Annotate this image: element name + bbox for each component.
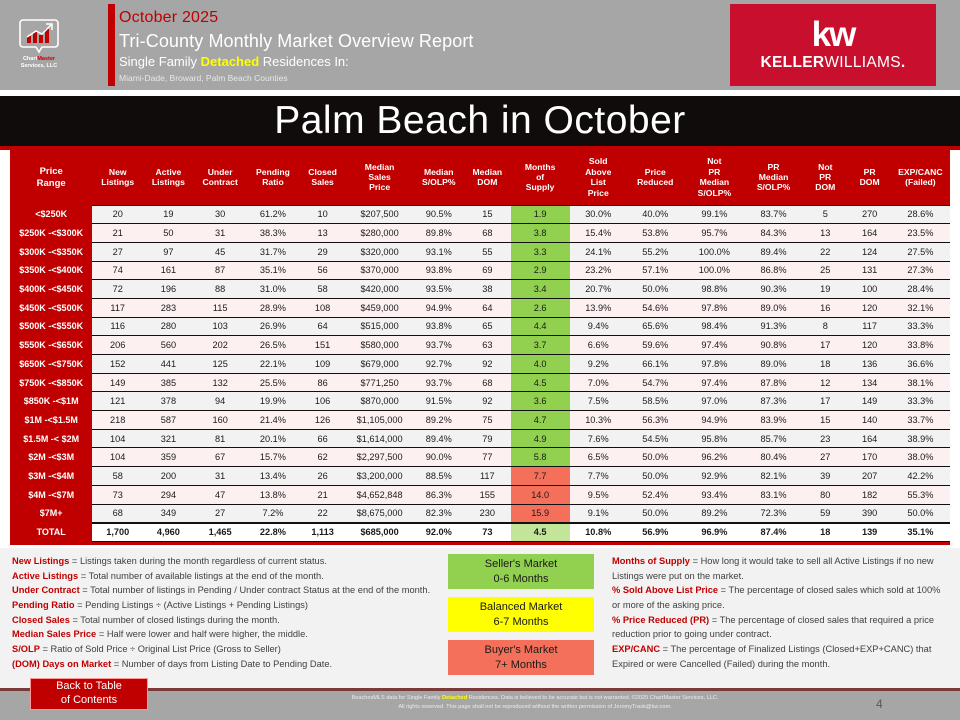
cell-npr-dom: 17 (802, 392, 848, 411)
cell-dom: 73 (464, 523, 510, 542)
cell-pr-solp: 86.8% (745, 261, 802, 280)
cell-reduced: 50.0% (627, 448, 684, 467)
cell-pr-dom: 182 (849, 485, 891, 504)
cell-exp: 28.4% (891, 280, 950, 299)
definition-text: = Total number of closed listings during… (70, 615, 280, 625)
cell-new: 104 (92, 429, 143, 448)
cell-pr-dom: 164 (849, 429, 891, 448)
definition-right-1: % Sold Above List Price = The percentage… (612, 583, 950, 612)
cell-pending: 22.1% (247, 355, 300, 374)
cell-npr-solp: 92.9% (684, 467, 745, 486)
cell-uc: 81 (194, 429, 247, 448)
cell-pr-dom: 117 (849, 317, 891, 336)
cell-closed: 106 (299, 392, 345, 411)
definitions-left: New Listings = Listings taken during the… (12, 554, 432, 672)
cell-solp: 94.9% (413, 298, 464, 317)
definition-right-2: % Price Reduced (PR) = The percentage of… (612, 613, 950, 642)
price-range-label: $550K -<$650K (10, 336, 92, 355)
cell-solp: 90.5% (413, 205, 464, 224)
months-of-supply-cell: 1.9 (511, 205, 570, 224)
report-counties: Miami-Dade, Broward, Palm Beach Counties (119, 72, 649, 85)
cell-exp: 32.1% (891, 298, 950, 317)
cell-dom: 64 (464, 298, 510, 317)
cell-active: 280 (143, 317, 194, 336)
column-header-pr-median-s-olp: PRMedianS/OLP% (745, 150, 802, 205)
months-of-supply-cell: 4.7 (511, 411, 570, 430)
disclaimer-pre: BeachesMLS data for Single Family (352, 695, 442, 701)
cell-new: 1,700 (92, 523, 143, 542)
months-of-supply-cell: 2.9 (511, 261, 570, 280)
cell-npr-dom: 80 (802, 485, 848, 504)
report-month: October 2025 (119, 8, 649, 29)
definitions-right: Months of Supply = How long it would tak… (612, 554, 950, 672)
cell-above: 7.6% (570, 429, 627, 448)
cell-pending: 61.2% (247, 205, 300, 224)
cell-pr-dom: 170 (849, 448, 891, 467)
cell-pending: 7.2% (247, 504, 300, 523)
cell-npr-solp: 96.2% (684, 448, 745, 467)
definition-term: S/OLP (12, 644, 40, 654)
cell-above: 24.1% (570, 242, 627, 261)
market-legend-box-0: Seller's Market0-6 Months (448, 554, 594, 589)
cell-above: 20.7% (570, 280, 627, 299)
column-header-not-pr-dom: NotPRDOM (802, 150, 848, 205)
cell-reduced: 54.7% (627, 373, 684, 392)
cell-new: 27 (92, 242, 143, 261)
cell-uc: 88 (194, 280, 247, 299)
cell-reduced: 55.2% (627, 242, 684, 261)
cell-msp: $515,000 (346, 317, 414, 336)
cell-active: 385 (143, 373, 194, 392)
cell-pending: 21.4% (247, 411, 300, 430)
table-total-row: TOTAL1,7004,9601,46522.8%1,113$685,00092… (10, 523, 950, 542)
price-range-label: <$250K (10, 205, 92, 224)
cell-npr-dom: 8 (802, 317, 848, 336)
section-banner: Palm Beach in October (0, 96, 960, 150)
cell-pr-dom: 134 (849, 373, 891, 392)
back-to-table-of-contents-button[interactable]: Back to Table of Contents (30, 678, 148, 710)
cell-above: 9.5% (570, 485, 627, 504)
cell-dom: 65 (464, 317, 510, 336)
cell-uc: 47 (194, 485, 247, 504)
page-number: 4 (876, 697, 883, 711)
cell-closed: 1,113 (299, 523, 345, 542)
market-legend-range: 7+ Months (495, 658, 547, 672)
cell-exp: 33.3% (891, 317, 950, 336)
price-range-label: $350K -<$400K (10, 261, 92, 280)
cell-dom: 68 (464, 373, 510, 392)
disclaimer-post: Residences. Data is believed to be accur… (467, 695, 718, 701)
cell-active: 378 (143, 392, 194, 411)
column-header-exp-canc-failed: EXP/CANC(Failed) (891, 150, 950, 205)
cell-exp: 27.5% (891, 242, 950, 261)
cell-active: 50 (143, 224, 194, 243)
kw-monogram: kw (812, 18, 855, 51)
definition-text: = Number of days from Listing Date to Pe… (111, 659, 332, 669)
price-range-label: $300K -<$350K (10, 242, 92, 261)
definition-term: Months of Supply (612, 556, 690, 566)
cell-pr-dom: 136 (849, 355, 891, 374)
definition-text: = Listings taken during the month regard… (69, 556, 327, 566)
cell-solp: 91.5% (413, 392, 464, 411)
price-range-label: $2M -<$3M (10, 448, 92, 467)
column-header-not-pr-median-s-olp: NotPRMedianS/OLP% (684, 150, 745, 205)
price-range-label: $4M -<$7M (10, 485, 92, 504)
cell-pr-dom: 120 (849, 298, 891, 317)
cell-solp: 82.3% (413, 504, 464, 523)
kw-wordmark: KELLERWILLIAMS. (761, 54, 906, 72)
cell-solp: 93.7% (413, 373, 464, 392)
price-range-label: $650K -<$750K (10, 355, 92, 374)
cell-new: 121 (92, 392, 143, 411)
cell-npr-solp: 97.8% (684, 355, 745, 374)
cell-reduced: 57.1% (627, 261, 684, 280)
cell-closed: 108 (299, 298, 345, 317)
cell-pending: 22.8% (247, 523, 300, 542)
cell-npr-dom: 15 (802, 411, 848, 430)
cell-solp: 93.8% (413, 317, 464, 336)
column-header-closed-sales: ClosedSales (299, 150, 345, 205)
definition-left-0: New Listings = Listings taken during the… (12, 554, 432, 569)
cell-msp: $370,000 (346, 261, 414, 280)
cell-above: 6.6% (570, 336, 627, 355)
cell-pr-solp: 87.8% (745, 373, 802, 392)
cell-reduced: 52.4% (627, 485, 684, 504)
price-range-label: $250K -<$300K (10, 224, 92, 243)
table-row: $550K -<$650K20656020226.5%151$580,00093… (10, 336, 950, 355)
cell-reduced: 65.6% (627, 317, 684, 336)
definition-term: EXP/CANC (612, 644, 660, 654)
cell-npr-solp: 98.8% (684, 280, 745, 299)
column-header-median-s-olp: MedianS/OLP% (413, 150, 464, 205)
table-row: $450K -<$500K11728311528.9%108$459,00094… (10, 298, 950, 317)
cell-npr-dom: 59 (802, 504, 848, 523)
cell-exp: 42.2% (891, 467, 950, 486)
cell-pr-dom: 120 (849, 336, 891, 355)
cell-npr-dom: 39 (802, 467, 848, 486)
cell-msp: $2,297,500 (346, 448, 414, 467)
cell-msp: $1,105,000 (346, 411, 414, 430)
cell-npr-solp: 99.1% (684, 205, 745, 224)
months-of-supply-cell: 4.5 (511, 373, 570, 392)
cell-solp: 93.7% (413, 336, 464, 355)
cell-uc: 1,465 (194, 523, 247, 542)
cell-msp: $685,000 (346, 523, 414, 542)
cell-closed: 109 (299, 355, 345, 374)
definition-text: = The percentage of Finalized Listings (… (612, 644, 931, 669)
cell-solp: 93.5% (413, 280, 464, 299)
market-table-container: PriceRangeNewListingsActiveListingsUnder… (10, 150, 950, 545)
cell-npr-dom: 19 (802, 280, 848, 299)
cell-new: 21 (92, 224, 143, 243)
cell-pr-solp: 80.4% (745, 448, 802, 467)
cell-npr-dom: 23 (802, 429, 848, 448)
cell-new: 116 (92, 317, 143, 336)
column-header-under-contract: UnderContract (194, 150, 247, 205)
cell-pr-dom: 207 (849, 467, 891, 486)
cell-active: 283 (143, 298, 194, 317)
months-of-supply-cell: 4.0 (511, 355, 570, 374)
definition-term: % Sold Above List Price (612, 585, 718, 595)
cell-active: 587 (143, 411, 194, 430)
subtitle-pre: Single Family (119, 54, 201, 69)
column-header-pr-dom: PRDOM (849, 150, 891, 205)
cell-pr-dom: 100 (849, 280, 891, 299)
cell-closed: 151 (299, 336, 345, 355)
cell-npr-solp: 97.8% (684, 298, 745, 317)
cell-uc: 125 (194, 355, 247, 374)
header-red-divider (108, 4, 115, 86)
cell-dom: 230 (464, 504, 510, 523)
months-of-supply-cell: 2.6 (511, 298, 570, 317)
market-legend-box-2: Buyer's Market7+ Months (448, 640, 594, 675)
price-range-label: $750K -<$850K (10, 373, 92, 392)
price-range-label: TOTAL (10, 523, 92, 542)
logo-name-part1: Chart (23, 56, 37, 62)
price-range-label: $400K -<$450K (10, 280, 92, 299)
cell-reduced: 59.6% (627, 336, 684, 355)
cell-exp: 35.1% (891, 523, 950, 542)
cell-closed: 26 (299, 467, 345, 486)
column-header-price-range: PriceRange (10, 150, 92, 205)
cell-above: 7.5% (570, 392, 627, 411)
cell-solp: 92.7% (413, 355, 464, 374)
months-of-supply-cell: 3.7 (511, 336, 570, 355)
definition-term: Closed Sales (12, 615, 70, 625)
table-row: $2M -<$3M1043596715.7%62$2,297,50090.0%7… (10, 448, 950, 467)
table-row: $350K -<$400K741618735.1%56$370,00093.8%… (10, 261, 950, 280)
cell-active: 196 (143, 280, 194, 299)
column-header-median-sales-price: MedianSalesPrice (346, 150, 414, 205)
cell-uc: 202 (194, 336, 247, 355)
cell-pr-dom: 131 (849, 261, 891, 280)
cell-pr-dom: 390 (849, 504, 891, 523)
definition-left-3: Pending Ratio = Pending Listings ÷ (Acti… (12, 598, 432, 613)
column-header-median-dom: MedianDOM (464, 150, 510, 205)
cell-uc: 132 (194, 373, 247, 392)
cell-pr-solp: 83.9% (745, 411, 802, 430)
cell-uc: 115 (194, 298, 247, 317)
cell-above: 7.7% (570, 467, 627, 486)
page-footer: Back to Table of Contents BeachesMLS dat… (0, 688, 960, 720)
cell-uc: 160 (194, 411, 247, 430)
cell-closed: 126 (299, 411, 345, 430)
table-row: $850K -<$1M1213789419.9%106$870,00091.5%… (10, 392, 950, 411)
price-range-label: $1M -<$1.5M (10, 411, 92, 430)
market-legend-range: 6-7 Months (493, 615, 548, 629)
page-header: ChartMaster Services, LLC October 2025 T… (0, 0, 960, 90)
definition-left-2: Under Contract = Total number of listing… (12, 583, 432, 598)
market-type-legend: Seller's Market0-6 MonthsBalanced Market… (448, 554, 603, 683)
cell-exp: 28.6% (891, 205, 950, 224)
cell-new: 68 (92, 504, 143, 523)
bar-chart-arrow-icon (19, 18, 59, 54)
cell-active: 19 (143, 205, 194, 224)
cell-solp: 86.3% (413, 485, 464, 504)
cell-msp: $4,652,848 (346, 485, 414, 504)
market-legend-label: Balanced Market (480, 600, 563, 614)
kw-word-dot: . (901, 54, 906, 71)
cell-npr-dom: 13 (802, 224, 848, 243)
cell-above: 6.5% (570, 448, 627, 467)
cell-npr-dom: 25 (802, 261, 848, 280)
cell-solp: 89.4% (413, 429, 464, 448)
definition-text: = Total number of listings in Pending / … (80, 585, 430, 595)
cell-dom: 63 (464, 336, 510, 355)
cell-npr-dom: 5 (802, 205, 848, 224)
definition-text: = Ratio of Sold Price ÷ Original List Pr… (40, 644, 281, 654)
market-legend-box-1: Balanced Market6-7 Months (448, 597, 594, 632)
market-legend-range: 0-6 Months (493, 572, 548, 586)
legend-section: New Listings = Listings taken during the… (0, 548, 960, 688)
cell-pr-dom: 270 (849, 205, 891, 224)
cell-solp: 93.8% (413, 261, 464, 280)
cell-msp: $771,250 (346, 373, 414, 392)
table-row: $1M -<$1.5M21858716021.4%126$1,105,00089… (10, 411, 950, 430)
cell-reduced: 53.8% (627, 224, 684, 243)
cell-new: 20 (92, 205, 143, 224)
cell-pending: 15.7% (247, 448, 300, 467)
definition-right-3: EXP/CANC = The percentage of Finalized L… (612, 642, 950, 671)
cell-pending: 26.5% (247, 336, 300, 355)
market-legend-label: Seller's Market (485, 557, 557, 571)
cell-exp: 38.9% (891, 429, 950, 448)
cell-uc: 103 (194, 317, 247, 336)
table-row: $250K -<$300K21503138.3%13$280,00089.8%6… (10, 224, 950, 243)
cell-above: 30.0% (570, 205, 627, 224)
cell-uc: 94 (194, 392, 247, 411)
cell-pending: 31.0% (247, 280, 300, 299)
price-range-label: $7M+ (10, 504, 92, 523)
table-row: $7M+68349277.2%22$8,675,00082.3%23015.99… (10, 504, 950, 523)
cell-new: 74 (92, 261, 143, 280)
months-of-supply-cell: 4.4 (511, 317, 570, 336)
cell-pr-solp: 84.3% (745, 224, 802, 243)
cell-uc: 67 (194, 448, 247, 467)
table-row: $1.5M -< $2M1043218120.1%66$1,614,00089.… (10, 429, 950, 448)
cell-closed: 62 (299, 448, 345, 467)
cell-pending: 31.7% (247, 242, 300, 261)
cell-uc: 87 (194, 261, 247, 280)
cell-above: 9.1% (570, 504, 627, 523)
cell-exp: 33.8% (891, 336, 950, 355)
months-of-supply-cell: 4.5 (511, 523, 570, 542)
table-row: $4M -<$7M732944713.8%21$4,652,84886.3%15… (10, 485, 950, 504)
cell-new: 104 (92, 448, 143, 467)
table-row: $650K -<$750K15244112522.1%109$679,00092… (10, 355, 950, 374)
price-range-label: $500K -<$550K (10, 317, 92, 336)
cell-active: 560 (143, 336, 194, 355)
cell-dom: 92 (464, 355, 510, 374)
definition-right-0: Months of Supply = How long it would tak… (612, 554, 950, 583)
back-button-line2: of Contents (61, 694, 117, 708)
cell-solp: 90.0% (413, 448, 464, 467)
cell-new: 58 (92, 467, 143, 486)
definition-term: Median Sales Price (12, 629, 96, 639)
cell-npr-solp: 94.9% (684, 411, 745, 430)
cell-dom: 38 (464, 280, 510, 299)
cell-exp: 55.3% (891, 485, 950, 504)
cell-dom: 55 (464, 242, 510, 261)
column-header-price-reduced: PriceReduced (627, 150, 684, 205)
cell-npr-solp: 95.7% (684, 224, 745, 243)
definition-left-6: S/OLP = Ratio of Sold Price ÷ Original L… (12, 642, 432, 657)
cell-dom: 69 (464, 261, 510, 280)
cell-closed: 58 (299, 280, 345, 299)
header-text-block: October 2025 Tri-County Monthly Market O… (119, 8, 649, 85)
table-body: <$250K20193061.2%10$207,50090.5%151.930.… (10, 205, 950, 541)
cell-uc: 45 (194, 242, 247, 261)
cell-npr-solp: 97.0% (684, 392, 745, 411)
cell-reduced: 54.6% (627, 298, 684, 317)
cell-pr-solp: 89.0% (745, 355, 802, 374)
cell-dom: 117 (464, 467, 510, 486)
cell-dom: 92 (464, 392, 510, 411)
cell-reduced: 58.5% (627, 392, 684, 411)
cell-pending: 13.8% (247, 485, 300, 504)
cell-pr-dom: 140 (849, 411, 891, 430)
back-button-line1: Back to Table (56, 680, 122, 694)
cell-pr-solp: 85.7% (745, 429, 802, 448)
definition-term: Active Listings (12, 571, 78, 581)
cell-msp: $8,675,000 (346, 504, 414, 523)
cell-active: 4,960 (143, 523, 194, 542)
cell-msp: $3,200,000 (346, 467, 414, 486)
cell-active: 200 (143, 467, 194, 486)
cell-new: 117 (92, 298, 143, 317)
definition-text: = Pending Listings ÷ (Active Listings + … (75, 600, 309, 610)
cell-pending: 28.9% (247, 298, 300, 317)
column-header-sold-above-list-price: SoldAboveListPrice (570, 150, 627, 205)
months-of-supply-cell: 3.8 (511, 224, 570, 243)
cell-active: 321 (143, 429, 194, 448)
cell-closed: 66 (299, 429, 345, 448)
definition-term: (DOM) Days on Market (12, 659, 111, 669)
months-of-supply-cell: 3.4 (511, 280, 570, 299)
cell-new: 149 (92, 373, 143, 392)
market-legend-label: Buyer's Market (484, 643, 557, 657)
definition-left-4: Closed Sales = Total number of closed li… (12, 613, 432, 628)
cell-msp: $870,000 (346, 392, 414, 411)
cell-active: 97 (143, 242, 194, 261)
cell-pending: 20.1% (247, 429, 300, 448)
column-header-months-of-supply: MonthsofSupply (511, 150, 570, 205)
cell-msp: $1,614,000 (346, 429, 414, 448)
logo-wordmark: ChartMaster Services, LLC (21, 56, 57, 70)
definition-left-1: Active Listings = Total number of availa… (12, 569, 432, 584)
cell-npr-dom: 18 (802, 355, 848, 374)
cell-new: 152 (92, 355, 143, 374)
cell-msp: $420,000 (346, 280, 414, 299)
cell-npr-dom: 16 (802, 298, 848, 317)
cell-pr-solp: 89.0% (745, 298, 802, 317)
cell-exp: 23.5% (891, 224, 950, 243)
cell-npr-dom: 12 (802, 373, 848, 392)
cell-exp: 38.0% (891, 448, 950, 467)
report-subtitle: Single Family Detached Residences In: (119, 53, 649, 71)
definition-term: % Price Reduced (PR) (612, 615, 709, 625)
definition-left-7: (DOM) Days on Market = Number of days fr… (12, 657, 432, 672)
column-header-pending-ratio: PendingRatio (247, 150, 300, 205)
cell-msp: $459,000 (346, 298, 414, 317)
price-range-label: $450K -<$500K (10, 298, 92, 317)
cell-msp: $320,000 (346, 242, 414, 261)
cell-msp: $280,000 (346, 224, 414, 243)
cell-pending: 35.1% (247, 261, 300, 280)
subtitle-emphasis: Detached (201, 54, 260, 69)
months-of-supply-cell: 14.0 (511, 485, 570, 504)
cell-exp: 50.0% (891, 504, 950, 523)
